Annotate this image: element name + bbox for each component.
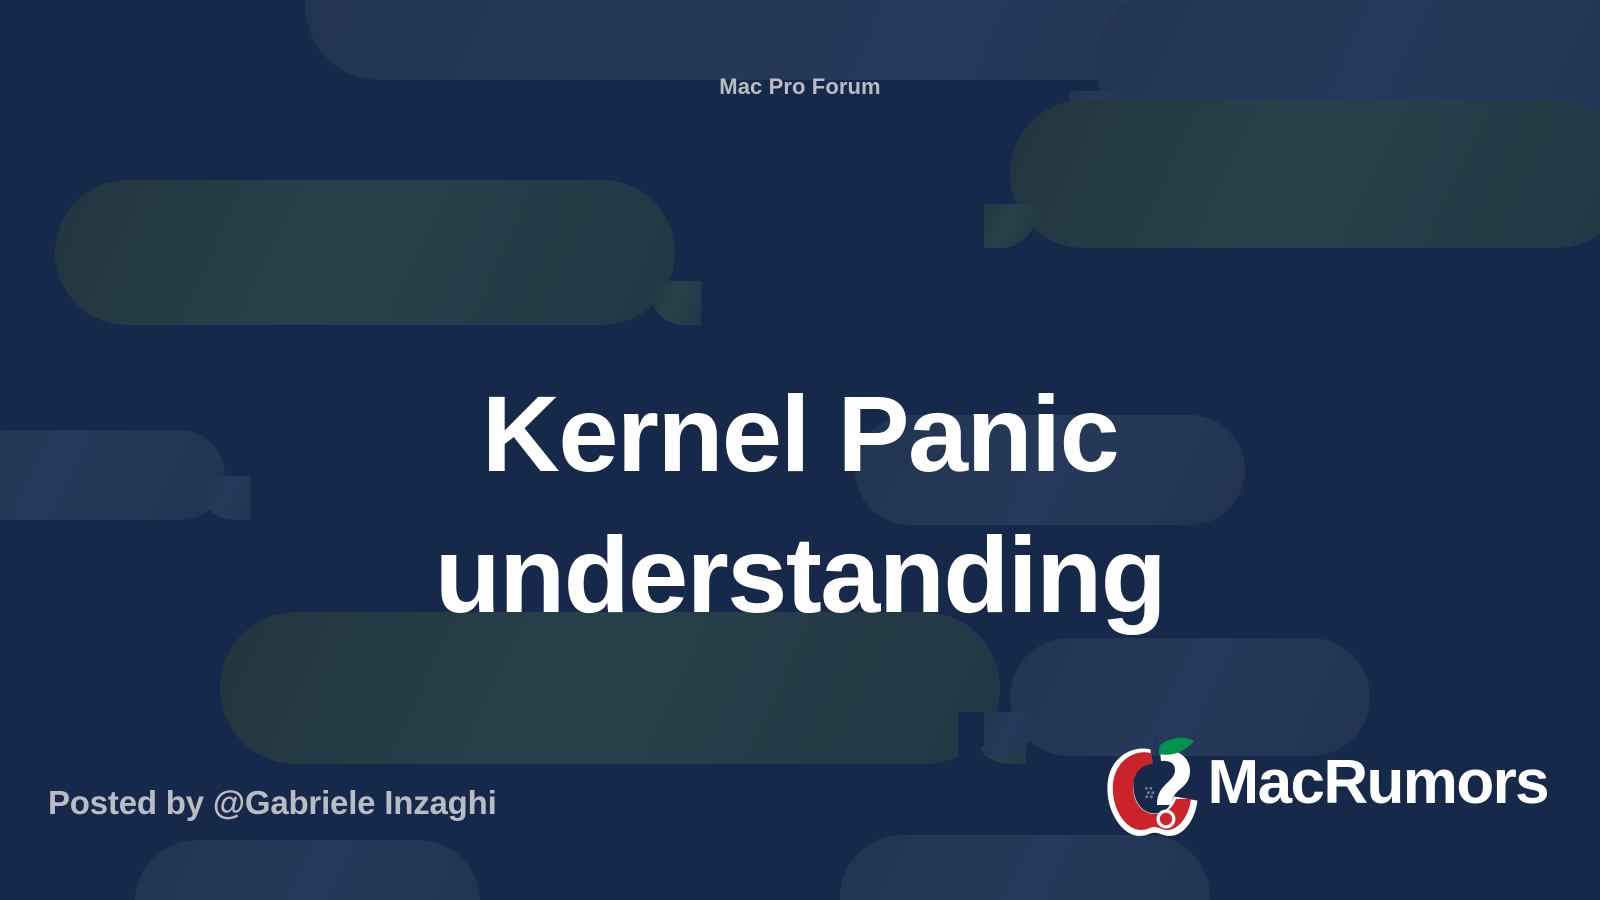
card-content: Mac Pro Forum Kernel Panic understanding… (0, 0, 1600, 900)
macrumors-logo: MacRumors (1102, 733, 1548, 838)
apple-question-mark-icon (1102, 733, 1202, 838)
posted-by-label: Posted by @Gabriele Inzaghi (48, 784, 497, 822)
forum-label: Mac Pro Forum (0, 74, 1600, 100)
macrumors-wordmark: MacRumors (1208, 752, 1548, 820)
page-title: Kernel Panic understanding (150, 364, 1450, 645)
social-share-card: Mac Pro Forum Kernel Panic understanding… (0, 0, 1600, 900)
